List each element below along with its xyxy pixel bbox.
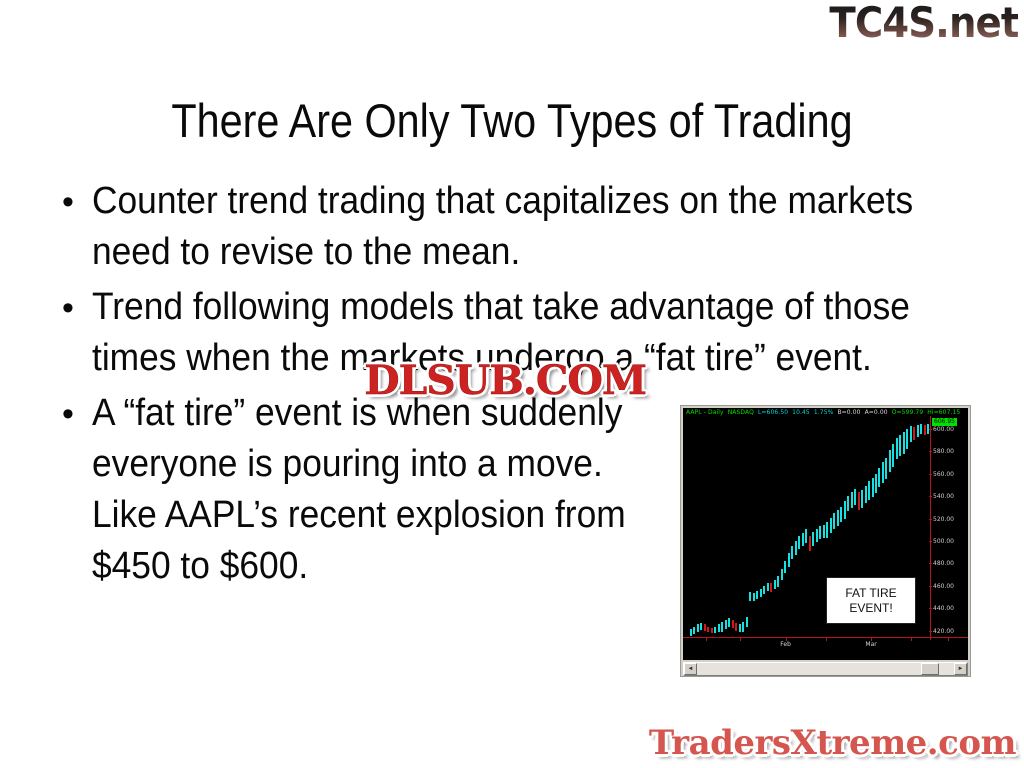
candlestick-bar xyxy=(763,586,765,595)
candlestick-bar xyxy=(749,592,751,601)
price-tick-label: 500.00 xyxy=(933,538,954,545)
candlestick-bar xyxy=(802,533,804,545)
candlestick-bar xyxy=(795,541,797,554)
candlestick-bar xyxy=(858,492,860,510)
current-price-tag: 606.95 xyxy=(932,418,957,426)
price-tick-label: 440.00 xyxy=(933,605,954,612)
time-grid-mark xyxy=(948,638,949,641)
candlestick-bar xyxy=(833,513,835,529)
candlestick-bar xyxy=(910,426,912,443)
candlestick-bar xyxy=(774,580,776,589)
candlestick-bar xyxy=(707,627,709,633)
page-title: There Are Only Two Types of Trading xyxy=(61,93,962,148)
candlestick-bar xyxy=(704,624,706,631)
candlestick-bar xyxy=(903,432,905,453)
candlestick-bar xyxy=(784,561,786,573)
chart-bid: B=0.00 xyxy=(837,409,860,416)
candlestick-bar xyxy=(700,623,702,630)
time-axis: FebMar xyxy=(683,637,968,652)
chart-open: O=599.79 xyxy=(892,409,924,416)
candlestick-bar xyxy=(913,427,915,440)
candlestick-bar xyxy=(721,622,723,632)
candlestick-bar xyxy=(830,518,832,534)
scroll-right-icon[interactable]: ► xyxy=(954,663,967,675)
chart-quote-header: AAPL - Daily NASDAQ L=606.50 10.45 1.75%… xyxy=(686,409,960,417)
candlestick-bar xyxy=(826,522,828,538)
candlestick-bar xyxy=(899,435,901,456)
candlestick-bar xyxy=(868,481,870,500)
time-grid-mark xyxy=(706,638,707,641)
scrollbar-thumb[interactable] xyxy=(921,663,939,675)
price-tick-label: 580.00 xyxy=(933,448,954,455)
candlestick-bar xyxy=(746,617,748,627)
price-tick-label: 540.00 xyxy=(933,493,954,500)
price-tick-label: 480.00 xyxy=(933,560,954,567)
candlestick-bar xyxy=(739,624,741,632)
callout-line-2: EVENT! xyxy=(849,601,892,616)
candlestick-bar xyxy=(760,589,762,597)
candlestick-bar xyxy=(816,529,818,542)
candlestick-bar xyxy=(777,576,779,587)
candlestick-bar xyxy=(917,425,919,437)
candlestick-bar xyxy=(896,438,898,459)
candlestick-bar xyxy=(690,629,692,636)
candlestick-bar xyxy=(906,429,908,449)
candlestick-bar xyxy=(920,424,922,434)
candlestick-bar xyxy=(756,591,758,599)
candlestick-bar xyxy=(875,474,877,494)
candlestick-bar xyxy=(711,628,713,634)
candlestick-bar xyxy=(770,583,772,592)
candlestick-bar xyxy=(823,525,825,538)
price-axis: 606.95 420.00440.00460.00480.00500.00520… xyxy=(930,416,968,640)
candlestick-bar xyxy=(798,536,800,549)
candlestick-bar xyxy=(805,529,807,543)
candlestick-bar xyxy=(693,627,695,635)
chart-plot-canvas: AAPL - Daily NASDAQ L=606.50 10.45 1.75%… xyxy=(683,408,968,660)
candlestick-bar xyxy=(735,623,737,631)
price-tick-label: 460.00 xyxy=(933,583,954,590)
candlestick-bar xyxy=(742,622,744,632)
watermark-dlsub: DLSUB.COM xyxy=(364,361,646,401)
time-tick-label: Mar xyxy=(865,641,876,649)
chart-horizontal-scrollbar[interactable]: ◄ ► xyxy=(683,662,968,676)
chart-ask: A=0.00 xyxy=(865,409,888,416)
bullet-marker-icon: • xyxy=(52,388,92,440)
callout-line-1: FAT TIRE xyxy=(845,586,896,601)
candlestick-bar xyxy=(924,425,926,435)
candlestick-bar xyxy=(714,627,716,634)
candlestick-bar xyxy=(781,569,783,580)
candlestick-bar xyxy=(878,468,880,487)
price-tick-label: 560.00 xyxy=(933,471,954,478)
chart-change-percent: 1.75% xyxy=(814,409,834,416)
candlestick-bar xyxy=(767,583,769,591)
chart-last-price: L=606.50 xyxy=(758,409,788,416)
stock-chart-widget[interactable]: AAPL - Daily NASDAQ L=606.50 10.45 1.75%… xyxy=(680,405,971,677)
candlestick-bar xyxy=(728,618,730,627)
candlestick-bar xyxy=(851,492,853,508)
candlestick-bar xyxy=(697,624,699,632)
list-item: • Counter trend trading that capitalizes… xyxy=(52,176,982,278)
scrollbar-track[interactable] xyxy=(697,663,954,675)
time-grid-mark xyxy=(740,638,741,641)
time-tick-label: Feb xyxy=(780,641,791,649)
candlestick-bar xyxy=(882,462,884,483)
fat-tire-event-callout: FAT TIRE EVENT! xyxy=(826,577,916,624)
candlestick-bar xyxy=(854,489,856,505)
candlestick-bar xyxy=(819,526,821,539)
time-grid-mark xyxy=(826,638,827,641)
candlestick-bar xyxy=(725,620,727,629)
scroll-left-icon[interactable]: ◄ xyxy=(684,663,697,675)
candlestick-bar xyxy=(812,532,814,545)
candlestick-bar xyxy=(872,478,874,497)
candlestick-bar xyxy=(865,486,867,504)
candlestick-bar xyxy=(809,536,811,552)
chart-high: Hi=607.15 xyxy=(927,409,960,416)
candlestick-bar xyxy=(837,510,839,526)
candlestick-bar xyxy=(847,496,849,512)
chart-exchange: NASDAQ xyxy=(728,409,754,416)
candlestick-bar xyxy=(753,593,755,601)
price-tick-label: 520.00 xyxy=(933,516,954,523)
candlestick-bar xyxy=(889,450,891,472)
candlestick-bar xyxy=(718,624,720,632)
time-grid-mark xyxy=(911,638,912,641)
price-tick-label: 600.00 xyxy=(933,426,954,433)
chart-symbol: AAPL - Daily xyxy=(686,409,724,416)
candlestick-bar xyxy=(892,444,894,467)
candlestick-bar xyxy=(861,490,863,508)
candlestick-bar xyxy=(844,501,846,519)
candlestick-bar xyxy=(885,458,887,479)
brand-logo-tradersxtreme: TradersXtreme.com xyxy=(649,726,1016,760)
bullet-text: A “fat tire” event is when suddenly ever… xyxy=(92,388,687,592)
candlestick-bar xyxy=(788,553,790,566)
brand-logo-tc4s: TC4S.net xyxy=(829,2,1018,44)
bullet-marker-icon: • xyxy=(52,176,92,228)
bullet-text: Counter trend trading that capitalizes o… xyxy=(92,176,920,278)
price-tick-label: 420.00 xyxy=(933,628,954,635)
candlestick-bar xyxy=(732,620,734,628)
candlestick-bar xyxy=(840,507,842,523)
candlestick-bar xyxy=(791,546,793,559)
bullet-marker-icon: • xyxy=(52,282,92,334)
chart-change: 10.45 xyxy=(792,409,810,416)
